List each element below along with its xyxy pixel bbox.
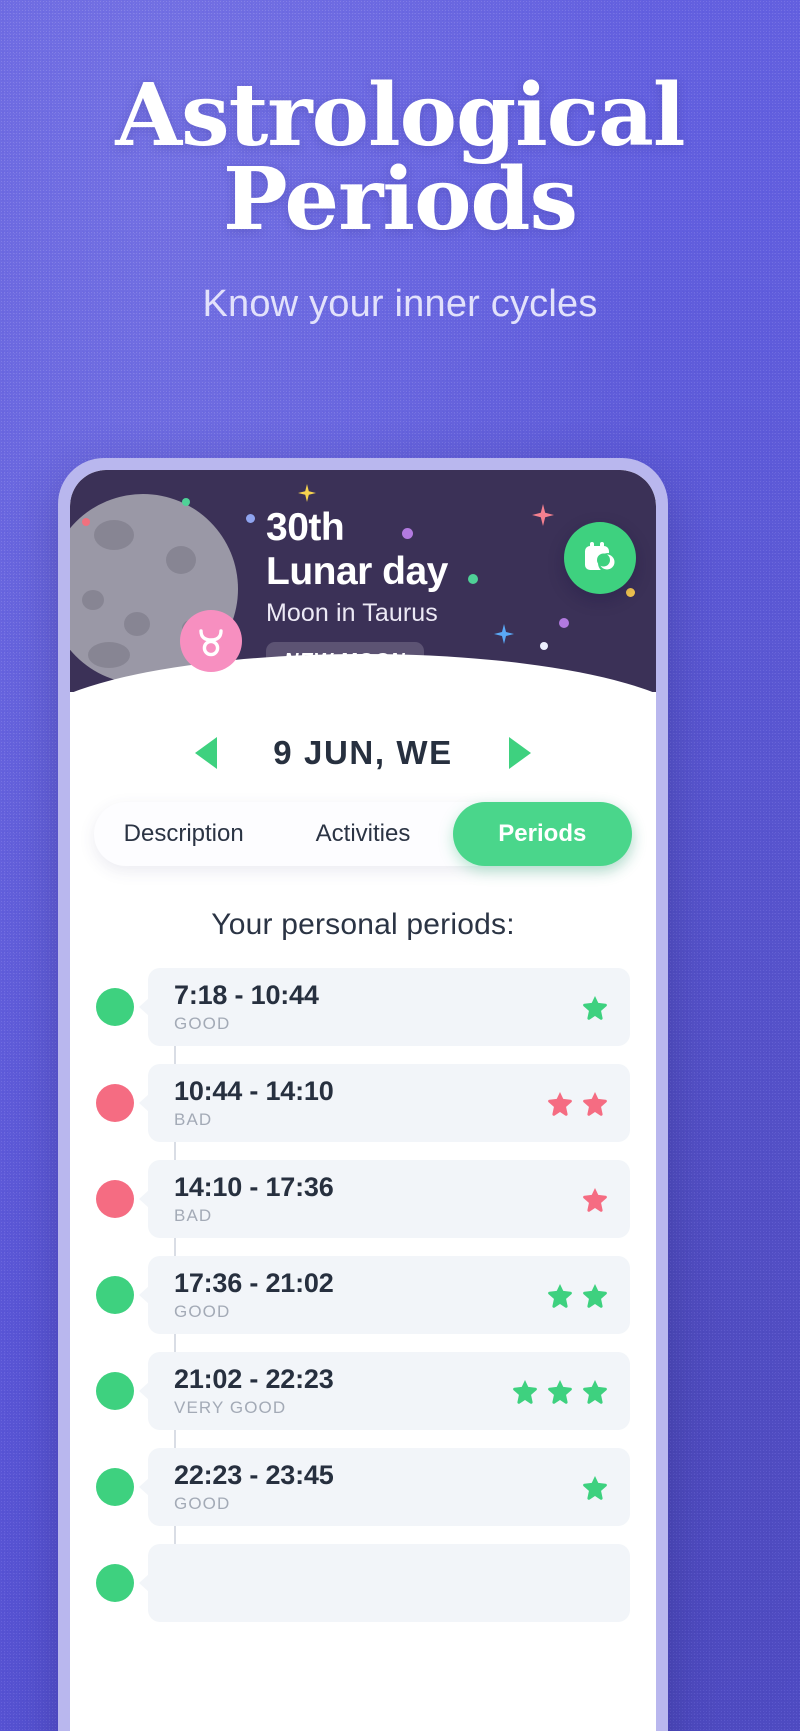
current-date-label: 9 JUN, WE [273, 734, 452, 772]
sparkle-icon [298, 484, 316, 507]
tab-description[interactable]: Description [94, 802, 273, 866]
period-quality-label: GOOD [174, 1302, 547, 1322]
lunar-day-header: 30th Lunar day Moon in Taurus NEW MOON [70, 470, 656, 692]
page-title: Astrological Periods [0, 0, 800, 243]
period-quality-label: BAD [174, 1206, 582, 1226]
phone-screen: 30th Lunar day Moon in Taurus NEW MOON 9 [70, 470, 656, 1731]
star-dot [182, 498, 190, 506]
period-row[interactable]: 7:18 - 10:44GOOD [148, 968, 630, 1046]
calendar-moon-icon[interactable] [564, 522, 636, 594]
star-dot [559, 618, 569, 628]
period-time-range: 14:10 - 17:36 [174, 1172, 582, 1203]
star-icon [547, 1090, 573, 1116]
period-rating-stars [582, 1474, 608, 1500]
period-rating-stars [547, 1282, 608, 1308]
star-icon [582, 994, 608, 1020]
periods-list: 7:18 - 10:44GOOD10:44 - 14:10BAD14:10 - … [70, 968, 656, 1622]
phone-mockup-frame: 30th Lunar day Moon in Taurus NEW MOON 9 [58, 458, 668, 1731]
period-rating-stars [582, 1186, 608, 1212]
star-icon [512, 1378, 538, 1404]
period-row[interactable] [148, 1544, 630, 1622]
star-dot [82, 518, 90, 526]
period-row[interactable]: 10:44 - 14:10BAD [148, 1064, 630, 1142]
taurus-icon [180, 610, 242, 672]
period-rating-stars [547, 1090, 608, 1116]
period-row[interactable]: 22:23 - 23:45GOOD [148, 1448, 630, 1526]
date-navigation: 9 JUN, WE [70, 722, 656, 784]
period-time-range: 22:23 - 23:45 [174, 1460, 582, 1491]
period-status-dot [96, 1084, 134, 1122]
star-icon [582, 1282, 608, 1308]
period-status-dot [96, 1372, 134, 1410]
period-rating-stars [582, 994, 608, 1020]
period-quality-label: GOOD [174, 1014, 582, 1034]
period-status-dot [96, 1564, 134, 1602]
star-dot [540, 642, 548, 650]
star-icon [547, 1282, 573, 1308]
period-time-range: 17:36 - 21:02 [174, 1268, 547, 1299]
period-text-block: 14:10 - 17:36BAD [174, 1172, 582, 1226]
star-icon [582, 1090, 608, 1116]
lunar-day-label: Lunar day [266, 550, 448, 594]
tab-periods[interactable]: Periods [453, 802, 632, 866]
period-time-range: 7:18 - 10:44 [174, 980, 582, 1011]
period-row[interactable]: 21:02 - 22:23VERY GOOD [148, 1352, 630, 1430]
page-subtitle: Know your inner cycles [0, 283, 800, 326]
period-text-block: 7:18 - 10:44GOOD [174, 980, 582, 1034]
period-row[interactable]: 14:10 - 17:36BAD [148, 1160, 630, 1238]
triangle-left-icon[interactable] [195, 737, 217, 769]
tab-activities[interactable]: Activities [273, 802, 452, 866]
star-icon [582, 1378, 608, 1404]
period-status-dot [96, 1468, 134, 1506]
period-text-block: 22:23 - 23:45GOOD [174, 1460, 582, 1514]
period-quality-label: GOOD [174, 1494, 582, 1514]
star-icon [582, 1186, 608, 1212]
moon-phase-badge: NEW MOON [266, 642, 424, 682]
period-row[interactable]: 17:36 - 21:02GOOD [148, 1256, 630, 1334]
period-status-dot [96, 1180, 134, 1218]
triangle-right-icon[interactable] [509, 737, 531, 769]
period-text-block: 17:36 - 21:02GOOD [174, 1268, 547, 1322]
period-quality-label: BAD [174, 1110, 547, 1130]
period-time-range: 10:44 - 14:10 [174, 1076, 547, 1107]
star-icon [582, 1474, 608, 1500]
period-status-dot [96, 988, 134, 1026]
sparkle-icon [532, 504, 554, 531]
page-title-line-2: Periods [18, 158, 782, 242]
sparkle-icon [494, 624, 514, 649]
periods-heading: Your personal periods: [70, 908, 656, 942]
period-quality-label: VERY GOOD [174, 1398, 512, 1418]
period-rating-stars [512, 1378, 608, 1404]
star-dot [468, 574, 478, 584]
hero-section: Astrological Periods Know your inner cyc… [0, 0, 800, 326]
moon-sign-label: Moon in Taurus [266, 599, 448, 628]
star-dot [246, 514, 255, 523]
period-status-dot [96, 1276, 134, 1314]
tab-bar: Description Activities Periods [94, 802, 632, 866]
star-icon [547, 1378, 573, 1404]
lunar-day-number: 30th [266, 506, 448, 550]
period-text-block: 21:02 - 22:23VERY GOOD [174, 1364, 512, 1418]
period-time-range: 21:02 - 22:23 [174, 1364, 512, 1395]
lunar-day-text-block: 30th Lunar day Moon in Taurus NEW MOON [266, 506, 448, 682]
period-text-block [174, 1582, 608, 1585]
star-dot [626, 588, 635, 597]
period-text-block: 10:44 - 14:10BAD [174, 1076, 547, 1130]
